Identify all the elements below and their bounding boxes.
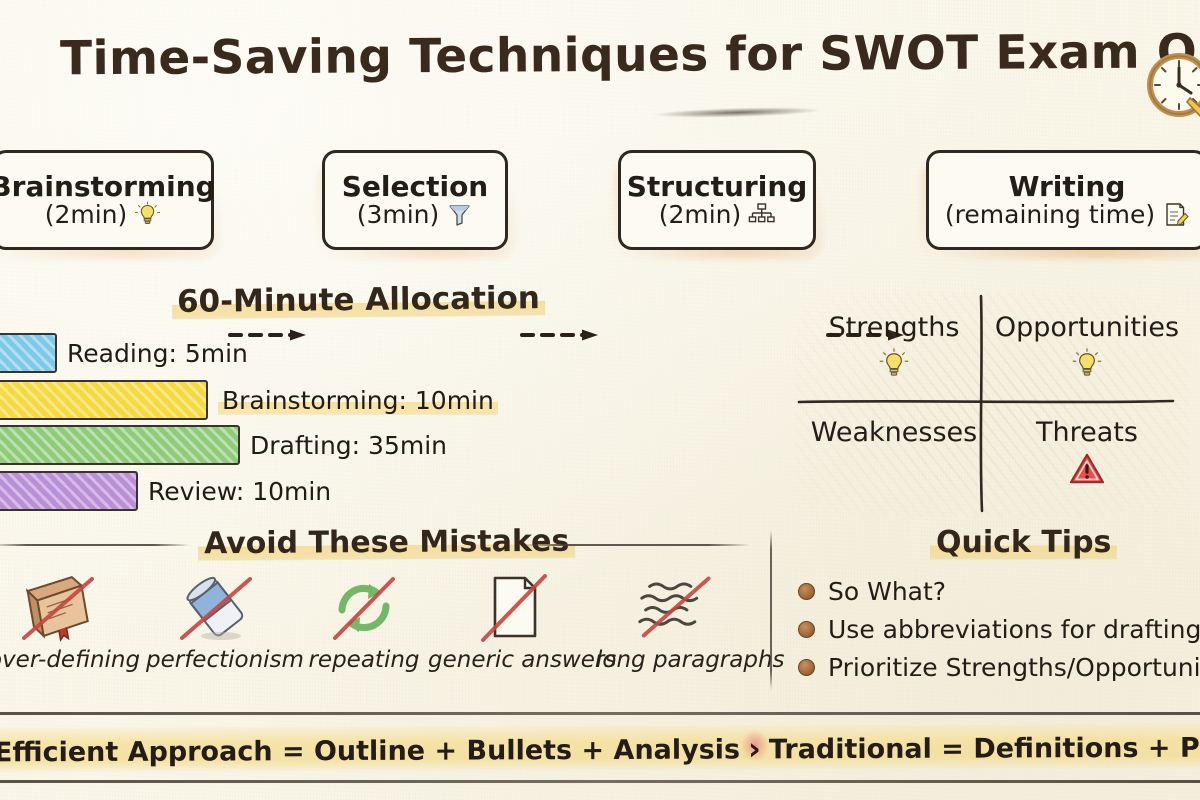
flow-arrow-2 xyxy=(520,328,612,342)
mistake-repeating[interactable]: repeating xyxy=(300,569,428,673)
flow-step-duration: (2min) xyxy=(45,201,128,229)
flow-step-label: Brainstorming xyxy=(0,172,216,201)
flow-step-brainstorming[interactable]: Brainstorming (2min) xyxy=(0,150,214,250)
process-flow: Brainstorming (2min) xyxy=(0,140,1200,270)
header: Time-Saving Techniques for SWOT Exam Que… xyxy=(0,24,1200,112)
banner-rule-bottom xyxy=(0,780,1200,783)
org-chart-icon xyxy=(748,201,775,228)
flow-step-duration-row: (remaining time) xyxy=(945,201,1189,229)
bullet-dot-icon xyxy=(798,659,815,676)
clock-icon xyxy=(1142,48,1200,122)
banner-right-text: Traditional = Definitions + Paragraphs +… xyxy=(769,731,1200,765)
flow-step-duration-row: (3min) xyxy=(357,201,474,229)
bullet-dot-icon xyxy=(798,583,815,600)
bullet-dot-icon xyxy=(798,621,815,638)
funnel-icon xyxy=(446,201,473,228)
title-underline-swoosh xyxy=(655,106,820,120)
mistakes-title: Avoid These Mistakes xyxy=(198,524,576,562)
swot-label: Opportunities xyxy=(989,312,1185,343)
summary-banner: Efficient Approach = Outline + Bullets +… xyxy=(0,706,1200,792)
book-crossed-icon xyxy=(0,569,128,647)
flow-step-writing[interactable]: Writing (remaining time) xyxy=(926,150,1200,250)
swot-label: Strengths xyxy=(809,312,979,343)
swot-matrix: Strengths Opportunities xyxy=(795,292,1190,517)
chart-bar-row: Drafting: 35min xyxy=(0,422,447,468)
flow-step-label: Structuring xyxy=(627,172,808,201)
note-pencil-icon xyxy=(1162,201,1189,228)
swot-label: Threats xyxy=(989,417,1185,448)
vertical-divider xyxy=(770,530,772,690)
bar-review xyxy=(0,471,138,511)
chart-bar-row: Brainstorming: 10min xyxy=(0,377,498,423)
section-rule-left xyxy=(0,544,190,546)
blank-page-crossed-icon xyxy=(428,569,596,647)
page-title: Time-Saving Techniques for SWOT Exam Que… xyxy=(60,25,1150,87)
bar-label-drafting: Drafting: 35min xyxy=(250,431,447,460)
banner-rule-top xyxy=(0,712,1200,715)
greater-than-icon: › xyxy=(748,731,761,767)
warning-triangle-icon xyxy=(989,452,1185,486)
lightbulb-icon xyxy=(134,201,161,228)
tip-text: Use abbreviations for drafting xyxy=(828,615,1200,644)
bar-label-brainstorming: Brainstorming: 10min xyxy=(218,386,498,415)
flow-step-structuring[interactable]: Structuring (2min) xyxy=(618,150,816,250)
swot-quadrant-opportunities[interactable]: Opportunities xyxy=(989,312,1185,383)
tip-text: So What? xyxy=(828,577,946,606)
tip-text: Prioritize Strengths/Opportunities fi xyxy=(828,653,1200,682)
mistake-over-defining[interactable]: over-defining xyxy=(0,569,128,673)
flow-step-duration: (2min) xyxy=(659,201,742,229)
scribble-lines-crossed-icon xyxy=(596,569,768,647)
mistake-generic-answers[interactable]: generic answers xyxy=(428,569,596,673)
banner-left-text: Efficient Approach = Outline + Bullets +… xyxy=(0,734,740,768)
mistake-caption: repeating xyxy=(300,647,428,673)
recycle-crossed-icon xyxy=(300,569,428,647)
lightbulb-icon xyxy=(809,347,979,383)
bar-brainstorming xyxy=(0,380,208,420)
tip-item[interactable]: So What? xyxy=(798,577,946,606)
tip-item[interactable]: Prioritize Strengths/Opportunities fi xyxy=(798,653,1200,682)
flow-step-selection[interactable]: Selection (3min) xyxy=(322,150,508,250)
banner-text: Efficient Approach = Outline + Bullets +… xyxy=(0,730,1200,771)
mistake-caption: long paragraphs xyxy=(596,647,768,673)
infographic-canvas: Time-Saving Techniques for SWOT Exam Que… xyxy=(0,0,1200,800)
lightbulb-icon xyxy=(989,347,1185,383)
swot-quadrant-weaknesses[interactable]: Weaknesses xyxy=(809,417,979,448)
flow-step-duration: (remaining time) xyxy=(945,201,1155,229)
swot-quadrant-threats[interactable]: Threats xyxy=(989,417,1185,486)
mistake-perfectionism[interactable]: perfectionism xyxy=(146,569,286,673)
chart-bar-row: Reading: 5min xyxy=(0,330,248,376)
mistake-long-paragraphs[interactable]: long paragraphs xyxy=(596,569,768,673)
tip-item[interactable]: Use abbreviations for drafting xyxy=(798,615,1200,644)
mistake-caption: generic answers xyxy=(428,647,596,673)
flow-step-duration-row: (2min) xyxy=(659,201,776,229)
mistake-caption: over-defining xyxy=(0,647,128,673)
bar-label-reading: Reading: 5min xyxy=(67,339,248,368)
bar-reading xyxy=(0,333,57,373)
mistakes-section: Avoid These Mistakes xyxy=(0,525,768,693)
bar-label-review: Review: 10min xyxy=(148,477,331,506)
eraser-crossed-icon xyxy=(146,569,286,647)
section-rule-right xyxy=(520,544,750,546)
swot-quadrant-strengths[interactable]: Strengths xyxy=(809,312,979,383)
allocation-chart-title: 60-Minute Allocation xyxy=(172,280,545,320)
bar-drafting xyxy=(0,425,240,465)
flow-step-label: Writing xyxy=(1009,172,1126,201)
flow-step-label: Selection xyxy=(342,172,489,201)
quick-tips-title: Quick Tips xyxy=(930,525,1117,560)
chart-bar-row: Review: 10min xyxy=(0,468,331,514)
mistake-caption: perfectionism xyxy=(146,647,286,673)
flow-step-duration-row: (2min) xyxy=(45,201,162,229)
flow-step-duration: (3min) xyxy=(357,201,440,229)
quick-tips-section: Quick Tips So What? Use abbreviations fo… xyxy=(790,525,1200,693)
allocation-chart: 60-Minute Allocation Reading: 5min Brain… xyxy=(0,282,520,517)
swot-label: Weaknesses xyxy=(809,417,979,448)
